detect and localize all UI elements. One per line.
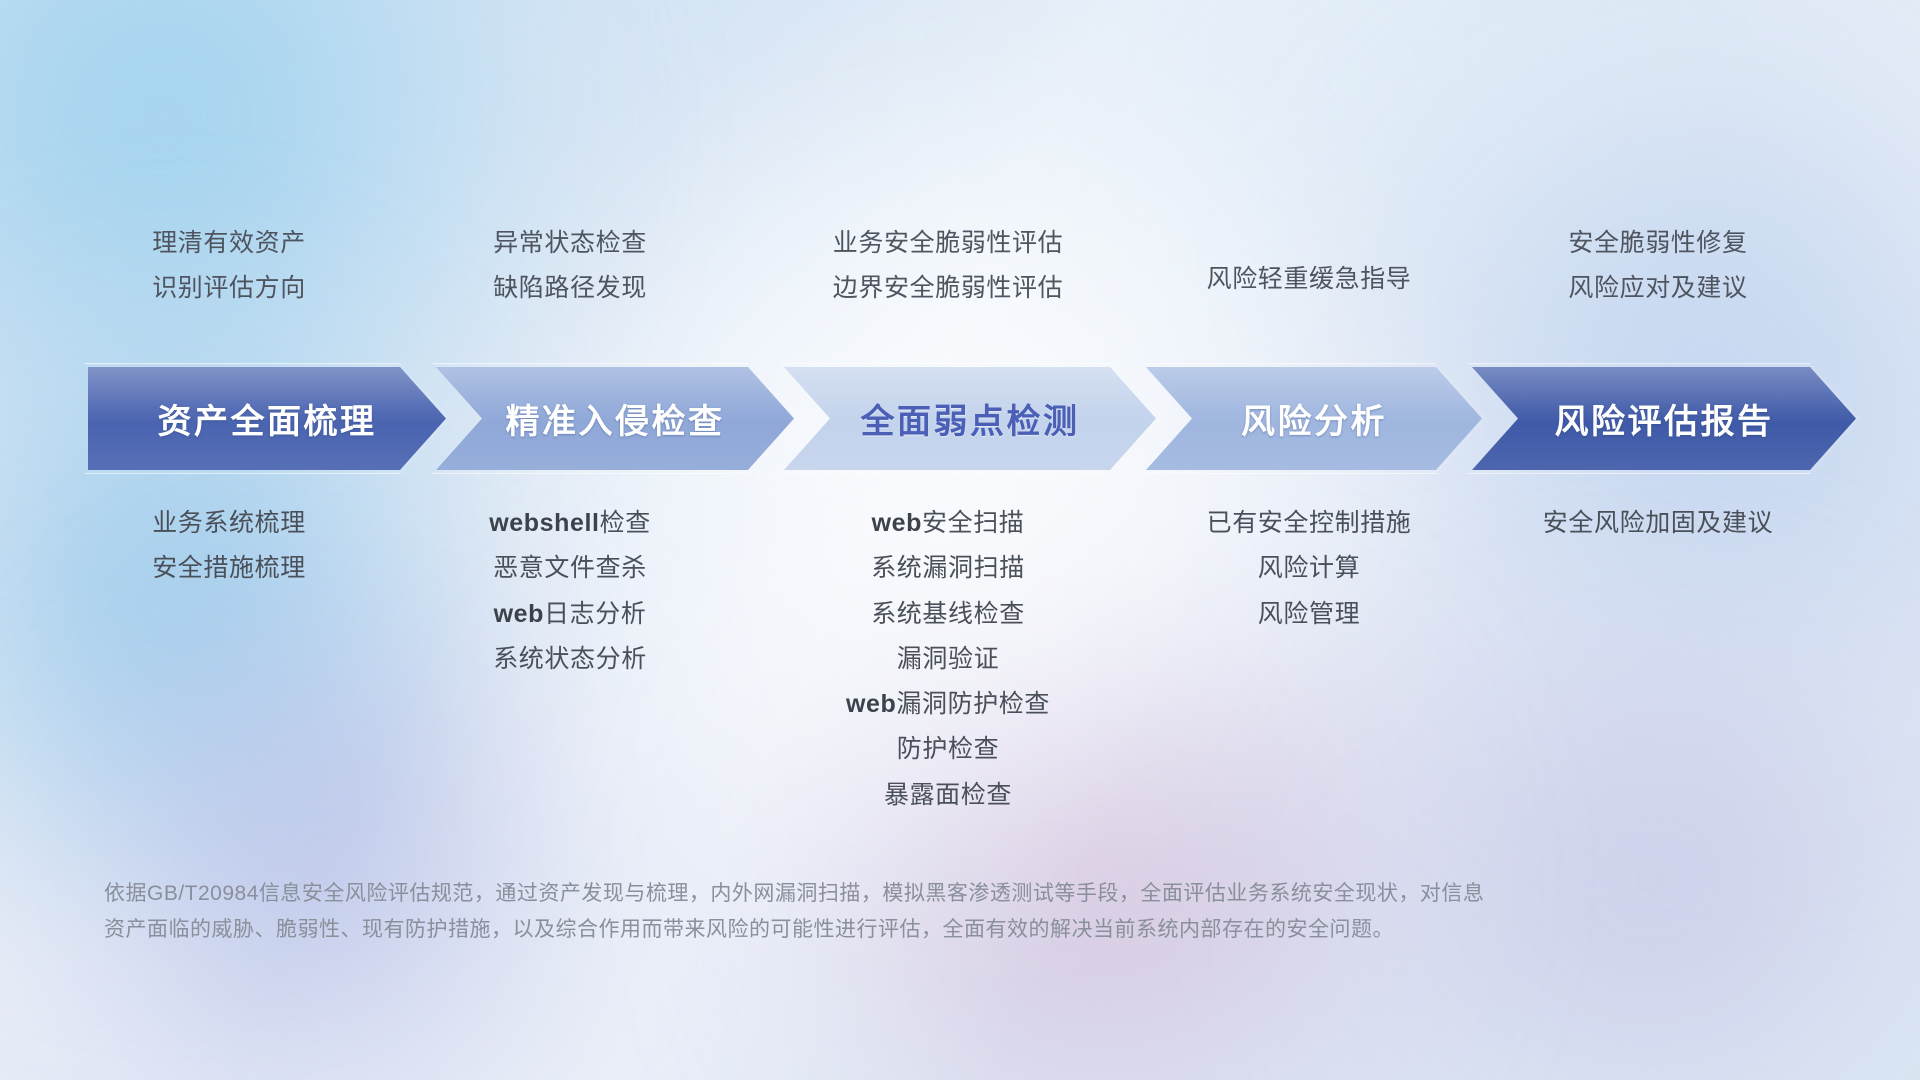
- stage-item: web安全扫描: [872, 508, 1025, 539]
- stage-item: 安全风险加固及建议: [1543, 508, 1773, 539]
- stage-item: 风险计算: [1258, 553, 1360, 584]
- chevron-label-asset-inventory: 资产全面梳理: [158, 394, 377, 443]
- chevron-risk-analysis[interactable]: 风险分析: [1146, 367, 1482, 470]
- stage-item-text: 检查: [600, 509, 651, 537]
- stage-item-prefix: webshell: [489, 509, 599, 537]
- stage-item-prefix: web: [494, 600, 544, 628]
- footer-description: 依据GB/T20984信息安全风险评估规范，通过资产发现与梳理，内外网漏洞扫描，…: [104, 876, 1624, 948]
- stage-note: 异常状态检查: [493, 228, 647, 259]
- stage-item-prefix: web: [846, 690, 896, 718]
- stage-item: 风险管理: [1258, 599, 1360, 630]
- stage-note: 安全脆弱性修复: [1568, 228, 1747, 259]
- stage-item: 恶意文件查杀: [493, 553, 647, 584]
- stage-item: 业务系统梳理: [152, 508, 306, 539]
- stage-item-prefix: web: [872, 509, 922, 537]
- stage-note: 识别评估方向: [152, 273, 306, 304]
- stage-items-assessment-report: 安全风险加固及建议: [1398, 508, 1918, 539]
- stage-item: 安全措施梳理: [152, 553, 306, 584]
- stage-note: 理清有效资产: [152, 228, 306, 259]
- stage-notes-top-assessment-report: 安全脆弱性修复风险应对及建议: [1398, 228, 1918, 338]
- stage-note: 边界安全脆弱性评估: [833, 273, 1063, 304]
- chevron-asset-inventory[interactable]: 资产全面梳理: [88, 367, 446, 470]
- footer-line-2: 资产面临的威胁、脆弱性、现有防护措施，以及综合作用而带来风险的可能性进行评估，全…: [104, 912, 1624, 948]
- stage-item: 已有安全控制措施: [1207, 508, 1412, 539]
- stage-item: web漏洞防护检查: [846, 689, 1050, 720]
- infographic-stage: 理清有效资产识别评估方向 异常状态检查缺陷路径发现 业务安全脆弱性评估边界安全脆…: [0, 0, 1920, 1080]
- stage-note: 风险轻重缓急指导: [1207, 264, 1412, 295]
- stage-item: 防护检查: [897, 734, 999, 765]
- stage-note: 缺陷路径发现: [493, 273, 647, 304]
- stage-item: 系统状态分析: [493, 644, 647, 675]
- stage-note: 风险应对及建议: [1568, 273, 1747, 304]
- stage-item: web日志分析: [494, 599, 647, 630]
- chevron-intrusion-check[interactable]: 精准入侵检查: [436, 367, 794, 470]
- process-chevron-band: 资产全面梳理精准入侵检查全面弱点检测风险分析风险评估报告: [88, 367, 1856, 470]
- chevron-assessment-report[interactable]: 风险评估报告: [1472, 367, 1856, 470]
- chevron-label-weakness-detection: 全面弱点检测: [861, 394, 1080, 443]
- stage-item: 漏洞验证: [897, 644, 999, 675]
- chevron-label-assessment-report: 风险评估报告: [1555, 394, 1774, 443]
- footer-line-1: 依据GB/T20984信息安全风险评估规范，通过资产发现与梳理，内外网漏洞扫描，…: [104, 876, 1624, 912]
- stage-item: 系统基线检查: [871, 599, 1025, 630]
- stage-item-text: 日志分析: [544, 600, 646, 628]
- stage-item-text: 漏洞防护检查: [896, 690, 1050, 718]
- stage-note: 业务安全脆弱性评估: [833, 228, 1063, 259]
- stage-item: webshell检查: [489, 508, 651, 539]
- stage-item-text: 安全扫描: [922, 509, 1024, 537]
- chevron-label-intrusion-check: 精准入侵检查: [506, 394, 725, 443]
- stage-item: 暴露面检查: [884, 780, 1012, 811]
- stage-item: 系统漏洞扫描: [871, 553, 1025, 584]
- chevron-weakness-detection[interactable]: 全面弱点检测: [784, 367, 1156, 470]
- chevron-label-risk-analysis: 风险分析: [1241, 394, 1387, 443]
